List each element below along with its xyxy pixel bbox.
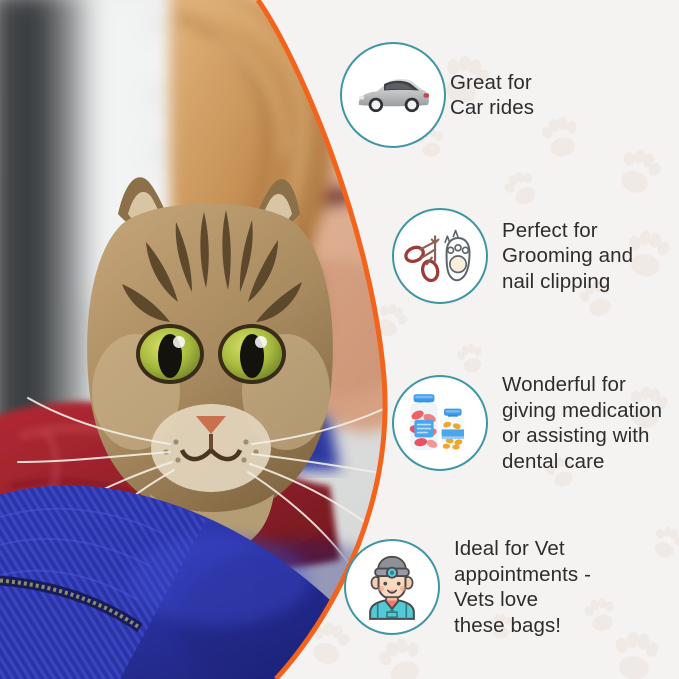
nail-clippers-paw-icon	[392, 208, 488, 304]
car-icon	[340, 42, 446, 148]
car-icon-glyph	[348, 50, 438, 140]
product-feature-infographic: Great for Car rides	[0, 0, 679, 679]
feature-label: Ideal for Vet appointments - Vets love t…	[454, 536, 591, 638]
feature-item-grooming: Perfect for Grooming and nail clipping	[392, 208, 633, 304]
feature-list: Great for Car rides	[0, 0, 679, 679]
medicine-bottles-icon	[392, 375, 488, 471]
feature-item-vet: Ideal for Vet appointments - Vets love t…	[344, 536, 591, 638]
medicine-bottles-glyph	[400, 383, 480, 463]
nail-clippers-paw-glyph	[399, 215, 481, 297]
veterinarian-glyph	[350, 545, 434, 629]
feature-label: Perfect for Grooming and nail clipping	[502, 218, 633, 295]
feature-label: Wonderful for giving medication or assis…	[502, 372, 662, 474]
veterinarian-icon	[344, 539, 440, 635]
feature-item-car-rides: Great for Car rides	[340, 42, 534, 148]
feature-label: Great for Car rides	[450, 70, 534, 121]
feature-item-medication: Wonderful for giving medication or assis…	[392, 372, 662, 474]
